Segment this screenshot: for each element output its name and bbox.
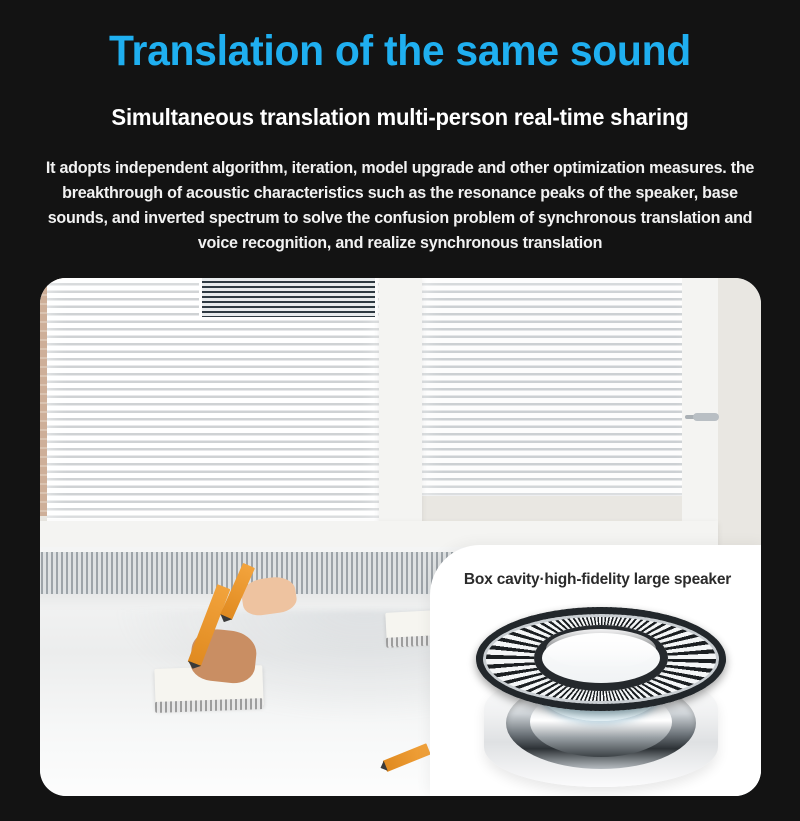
promo-page: Translation of the same sound Simultaneo… <box>0 0 800 821</box>
window-latch-icon <box>693 413 719 421</box>
product-callout-card: Box cavity·high-fidelity large speaker <box>430 545 761 796</box>
body-paragraph: It adopts independent algorithm, iterati… <box>35 156 764 256</box>
exploded-speaker-diagram <box>476 607 726 792</box>
speaker-grille-assembly <box>476 607 726 715</box>
callout-title: Box cavity·high-fidelity large speaker <box>430 571 761 589</box>
window-sill <box>40 521 718 547</box>
window-mullion-vertical <box>379 278 422 537</box>
transom-window <box>199 278 378 320</box>
page-title: Translation of the same sound <box>20 28 780 74</box>
grille-highlight <box>546 629 656 669</box>
meeting-room-photo: Box cavity·high-fidelity large speaker <box>40 278 761 796</box>
page-subtitle: Simultaneous translation multi-person re… <box>16 104 784 131</box>
window-blinds-right <box>422 278 696 496</box>
